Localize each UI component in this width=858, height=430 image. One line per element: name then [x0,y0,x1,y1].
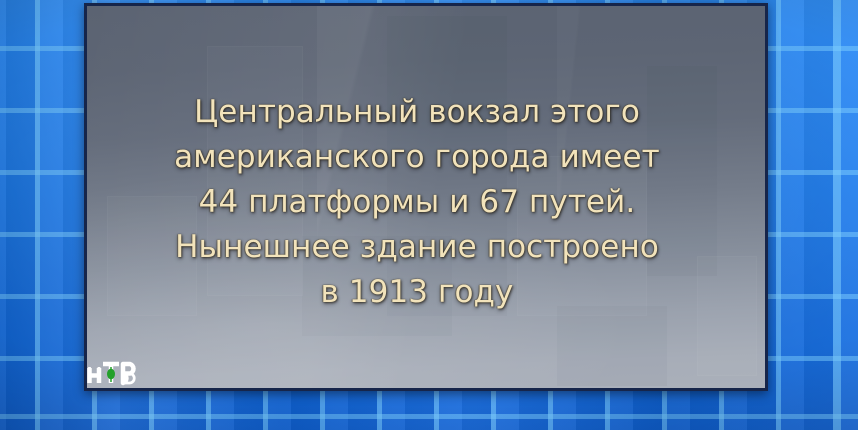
caption-line-2: американского города имеет [87,135,747,180]
caption-line-5: в 1913 году [87,270,747,315]
studio-display-panel: Центральный вокзал этого американского г… [84,3,768,391]
quiz-caption: Центральный вокзал этого американского г… [87,90,747,315]
ntv-logo-svg [84,357,138,388]
caption-line-3: 44 платформы и 67 путей. [87,180,747,225]
caption-line-1: Центральный вокзал этого [87,90,747,135]
ntv-logo-icon [84,357,138,388]
caption-line-4: Нынешнее здание построено [87,225,747,270]
screenshot-stage: Центральный вокзал этого американского г… [0,0,858,430]
